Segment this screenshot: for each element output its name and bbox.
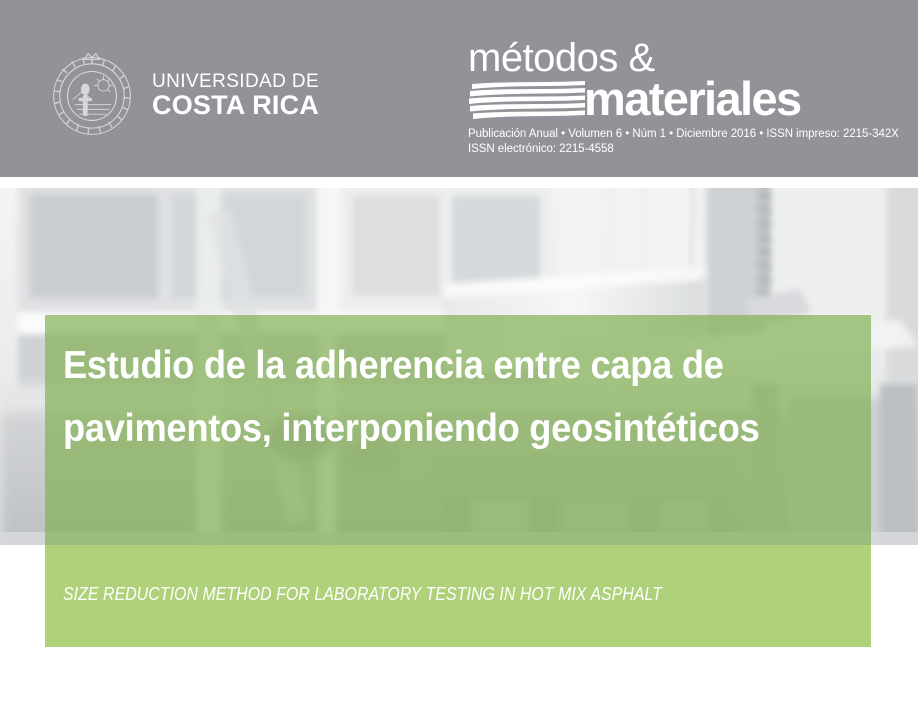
issn-line-2: ISSN electrónico: 2215-4558	[468, 142, 878, 157]
masthead-second-row: materiales	[468, 76, 878, 120]
header-bar: UNIVERSIDAD DE COSTA RICA métodos & mate…	[0, 0, 918, 177]
journal-masthead: métodos & materiales Publicación Anual •…	[468, 38, 878, 156]
ucr-seal-icon	[44, 47, 140, 143]
journal-cover-page: UNIVERSIDAD DE COSTA RICA métodos & mate…	[0, 0, 918, 703]
university-name-line1: UNIVERSIDAD DE	[152, 72, 319, 91]
university-name-line2: COSTA RICA	[152, 92, 319, 119]
university-logo: UNIVERSIDAD DE COSTA RICA	[44, 46, 294, 144]
issn-line-1: Publicación Anual • Volumen 6 • Núm 1 • …	[468, 127, 878, 142]
page-subtitle: SIZE REDUCTION METHOD FOR LABORATORY TES…	[63, 584, 662, 605]
masthead-materiales-word: materiales	[584, 78, 801, 120]
page-title: Estudio de la adherencia entre capa de p…	[63, 334, 798, 460]
diagonal-stripes-icon	[468, 80, 586, 120]
university-wordmark: UNIVERSIDAD DE COSTA RICA	[152, 72, 319, 119]
title-overlay-panel: Estudio de la adherencia entre capa de p…	[45, 315, 871, 545]
subtitle-band: SIZE REDUCTION METHOD FOR LABORATORY TES…	[45, 545, 871, 647]
masthead-issn-block: Publicación Anual • Volumen 6 • Núm 1 • …	[468, 127, 878, 156]
